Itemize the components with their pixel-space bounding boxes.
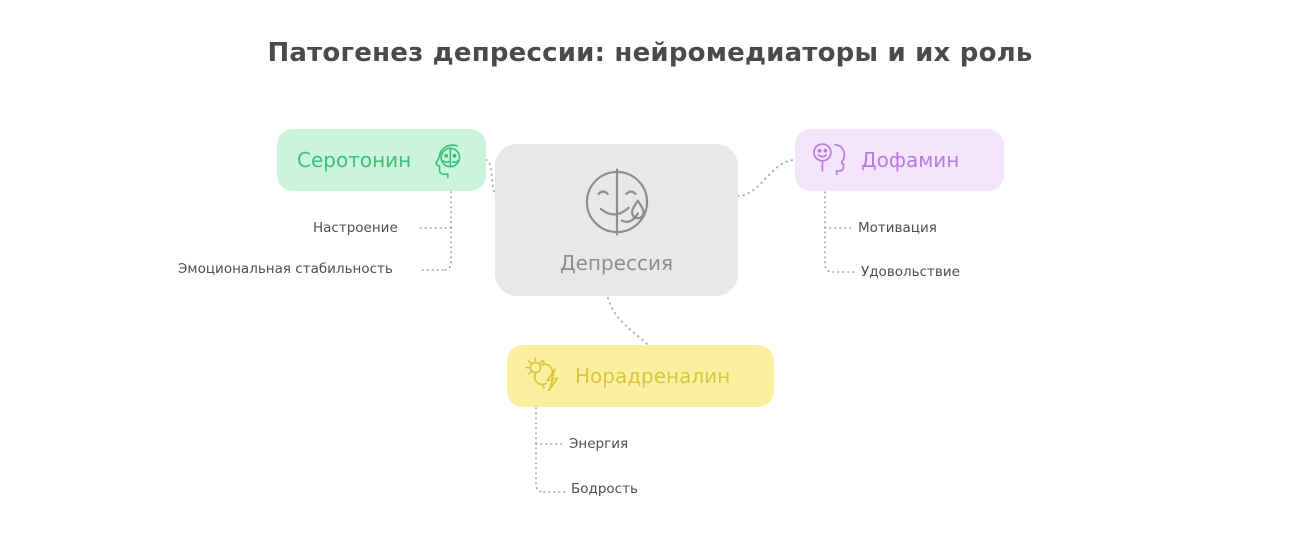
half-happy-half-sad-face-icon [580,165,654,239]
connector-center-noradrenaline [608,298,648,345]
node-dopamine-label: Дофамин [861,148,959,172]
smiley-head-profile-icon [809,139,851,181]
sub-label-dopamine-0: Мотивация [858,220,937,236]
page-title: Патогенез депрессии: нейромедиаторы и их… [0,38,1300,68]
sub-label-noradrenaline-1: Бодрость [571,481,638,497]
sun-lightning-energy-icon [521,354,565,398]
node-serotonin-label: Серотонин [297,148,411,172]
node-depression[interactable]: Депрессия [495,144,738,296]
head-brain-face-icon [432,140,472,180]
node-noradrenaline[interactable]: Норадреналин [507,345,774,407]
connector-serotonin-spine [443,192,451,270]
connector-center-dopamine [738,160,795,196]
mindmap-canvas: Патогенез депрессии: нейромедиаторы и их… [0,0,1300,546]
sub-label-serotonin-0: Настроение [313,220,398,236]
sub-label-dopamine-1: Удовольствие [861,264,960,280]
connector-noradrenaline-spine [536,408,544,492]
node-dopamine[interactable]: Дофамин [795,129,1004,191]
connector-dopamine-spine [825,192,833,272]
sub-label-noradrenaline-0: Энергия [569,436,628,452]
node-noradrenaline-label: Норадреналин [575,364,730,388]
node-serotonin[interactable]: Серотонин [277,129,486,191]
sub-label-serotonin-1: Эмоциональная стабильность [178,261,393,277]
node-depression-label: Депрессия [560,251,673,275]
